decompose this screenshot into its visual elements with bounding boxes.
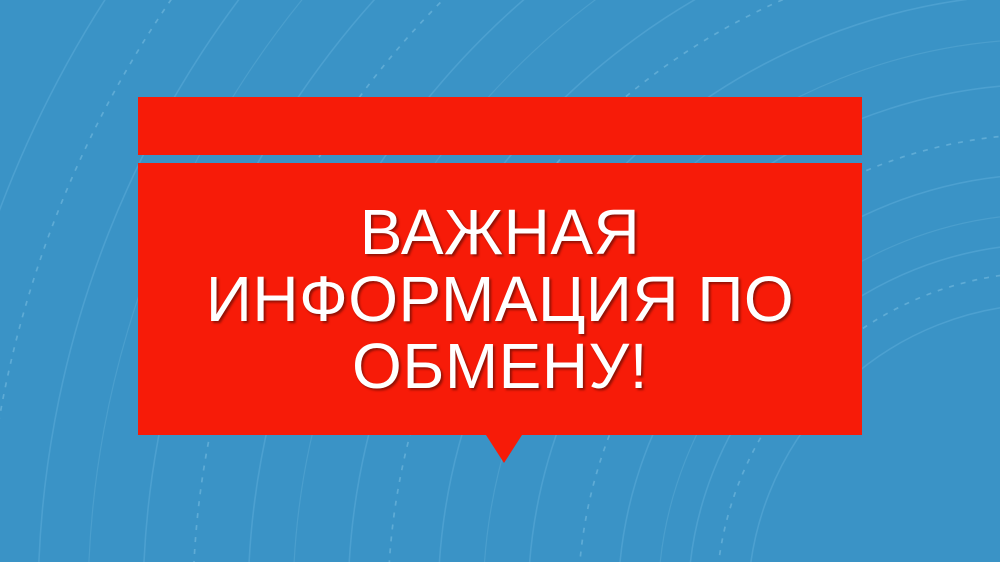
- slide-canvas: ВАЖНАЯ ИНФОРМАЦИЯ ПО ОБМЕНУ!: [0, 0, 1000, 562]
- callout-top-bar: [138, 97, 862, 155]
- headline-line-2: ИНФОРМАЦИЯ ПО: [206, 266, 794, 333]
- headline-line-3: ОБМЕНУ!: [352, 333, 648, 400]
- headline-line-1: ВАЖНАЯ: [360, 199, 640, 266]
- headline-block: ВАЖНАЯ ИНФОРМАЦИЯ ПО ОБМЕНУ!: [138, 163, 862, 435]
- callout-tail-icon: [486, 435, 522, 463]
